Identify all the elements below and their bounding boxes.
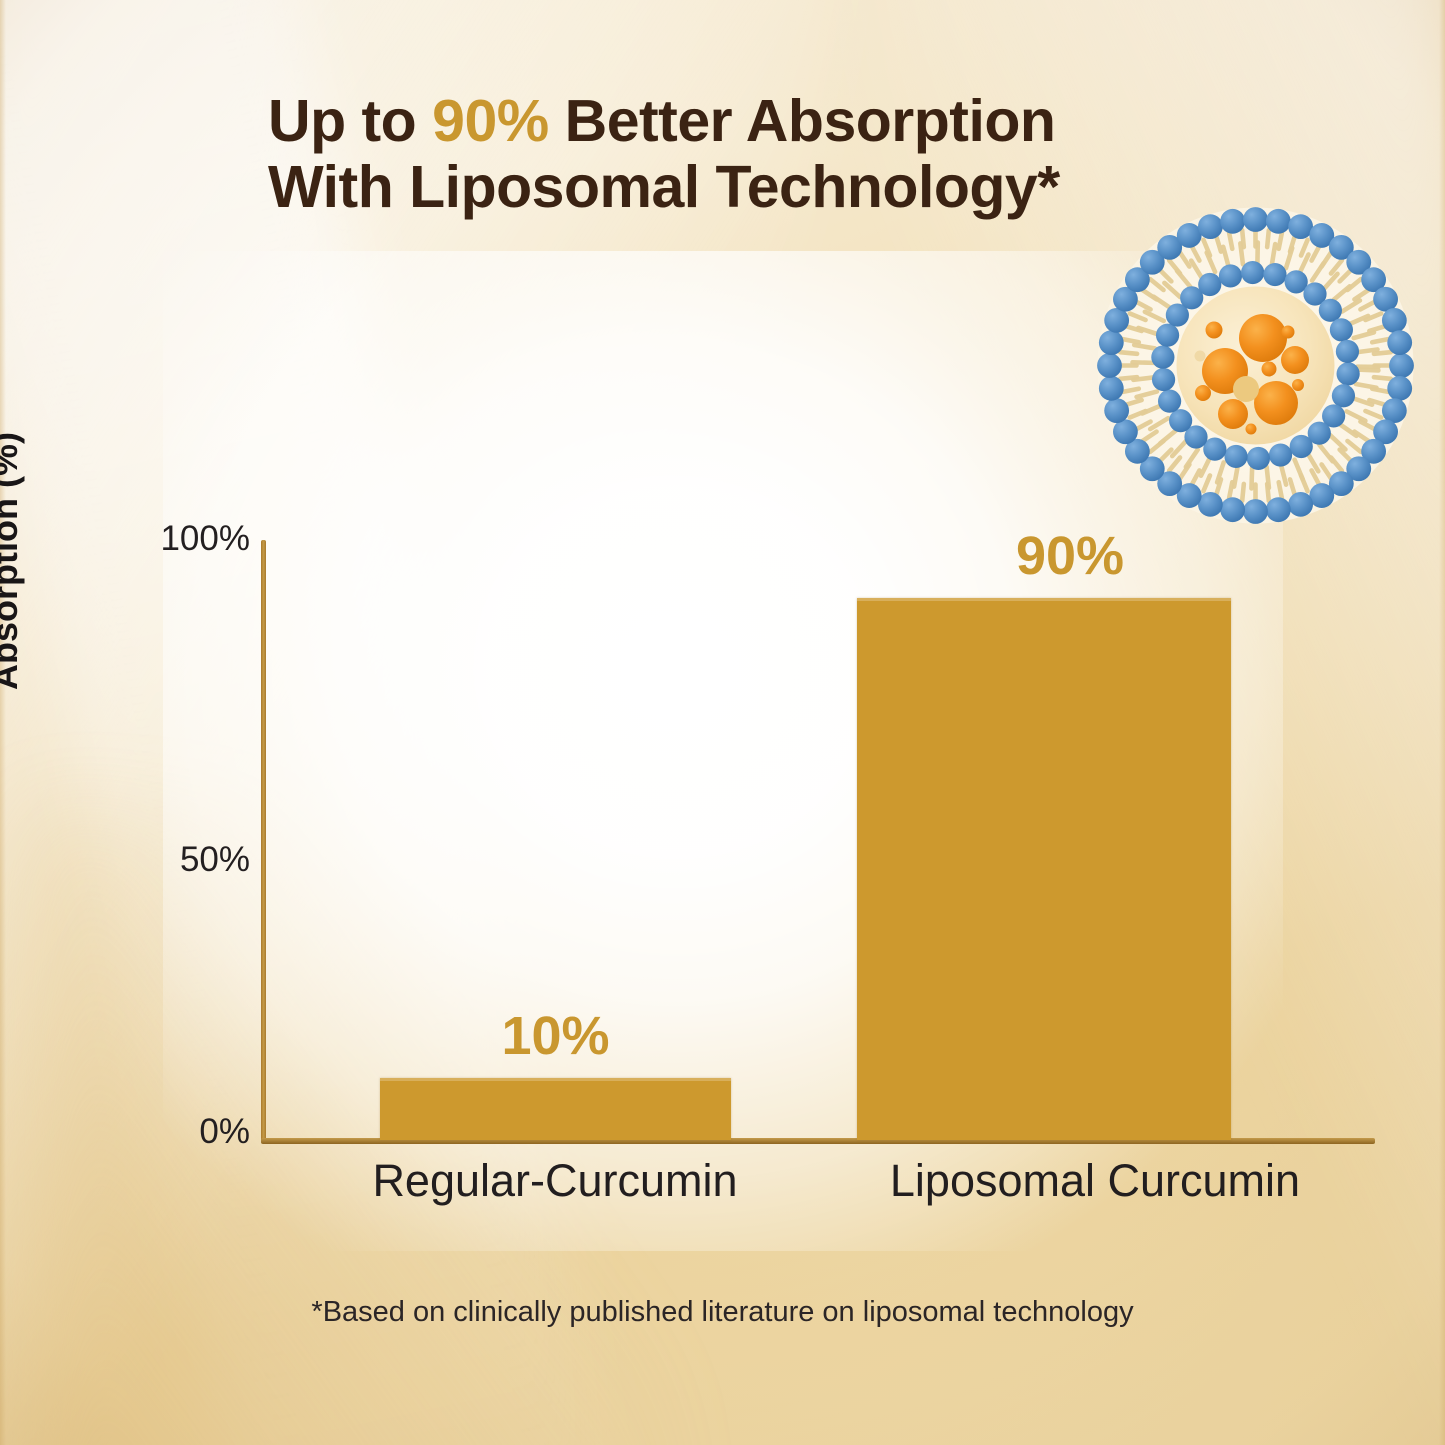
bar-value-liposomal-curcumin: 90%: [930, 525, 1210, 587]
y-tick-label-0: 0%: [199, 1112, 250, 1152]
bar-liposomal-curcumin[interactable]: [857, 598, 1231, 1140]
infographic-canvas: Up to 90% Better Absorption With Liposom…: [0, 0, 1445, 1445]
y-tick-label-50: 50%: [180, 840, 250, 880]
bar-regular-curcumin[interactable]: [380, 1078, 731, 1140]
y-tick-label-100: 100%: [160, 519, 250, 559]
y-axis-title: Absorption (%): [0, 432, 26, 690]
x-tick-label-regular-curcumin: Regular-Curcumin: [320, 1155, 790, 1207]
y-axis-line: [261, 540, 266, 1143]
x-tick-label-liposomal-curcumin: Liposomal Curcumin: [825, 1155, 1365, 1207]
bar-value-regular-curcumin: 10%: [380, 1005, 731, 1067]
footnote: *Based on clinically published literatur…: [0, 1296, 1445, 1329]
bar-chart: Absorption (%) 100% 50% 0% 10% Regular-C…: [0, 0, 1445, 1445]
